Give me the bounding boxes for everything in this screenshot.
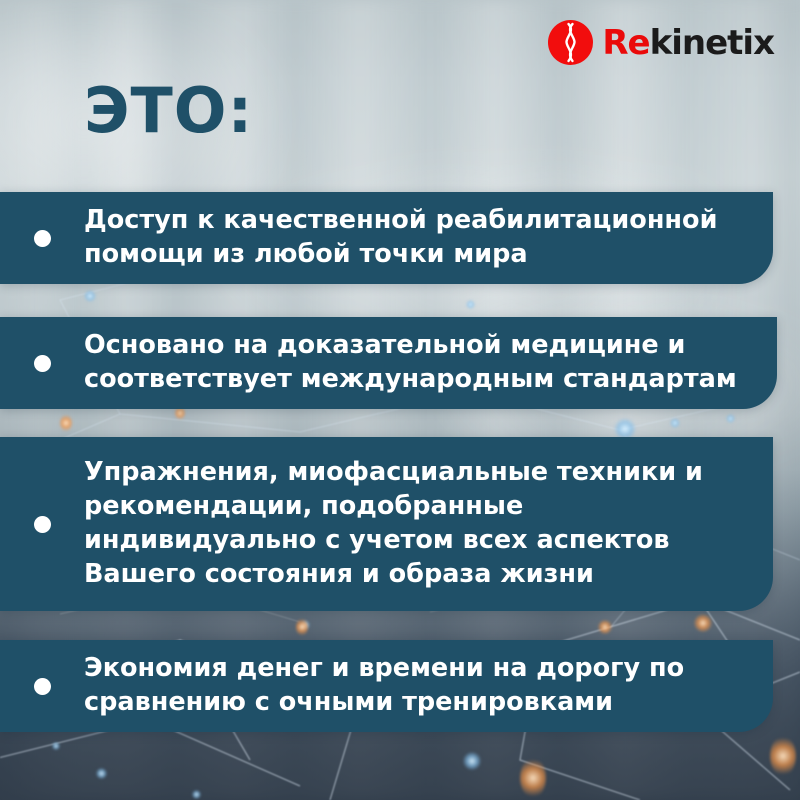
list-item-label: Доступ к качественной реабилитационной п… (84, 204, 755, 272)
list-item: Доступ к качественной реабилитационной п… (0, 192, 773, 284)
network-node (726, 414, 735, 423)
brand-logo[interactable]: Rekinetix (548, 20, 774, 65)
brand-wordmark: Rekinetix (602, 26, 774, 60)
network-node-accent (520, 758, 546, 798)
bullet-dot-icon (34, 355, 51, 372)
slide-canvas: Rekinetix ЭТО: Доступ к качественной реа… (0, 0, 800, 800)
page-title: ЭТО: (84, 80, 253, 142)
list-item-label: Экономия денег и времени на дорогу по ср… (84, 652, 755, 720)
brand-wordmark-kinetix: kinetix (650, 23, 774, 63)
network-node (463, 752, 481, 770)
list-item: Экономия денег и времени на дорогу по ср… (0, 640, 773, 732)
bullet-dot-icon (34, 230, 51, 247)
network-node-accent (296, 618, 308, 636)
network-node (96, 768, 107, 779)
brand-wordmark-re: Re (602, 23, 649, 63)
network-node-accent (598, 620, 612, 634)
network-node (192, 790, 201, 799)
bullet-dot-icon (34, 516, 51, 533)
network-node (84, 290, 96, 302)
network-node-accent (694, 614, 712, 632)
network-node (670, 418, 680, 428)
rekinetix-helix-circle-icon (548, 20, 593, 65)
list-item: Упражнения, миофасциальные техники и рек… (0, 437, 773, 611)
network-node-accent (60, 414, 72, 432)
list-item: Основано на доказательной медицине и соо… (0, 317, 777, 409)
network-node (52, 742, 60, 750)
network-node-accent (770, 736, 796, 776)
bullet-dot-icon (34, 678, 51, 695)
network-node (466, 300, 475, 309)
list-item-label: Упражнения, миофасциальные техники и рек… (84, 456, 755, 592)
list-item-label: Основано на доказательной медицине и соо… (84, 329, 759, 397)
